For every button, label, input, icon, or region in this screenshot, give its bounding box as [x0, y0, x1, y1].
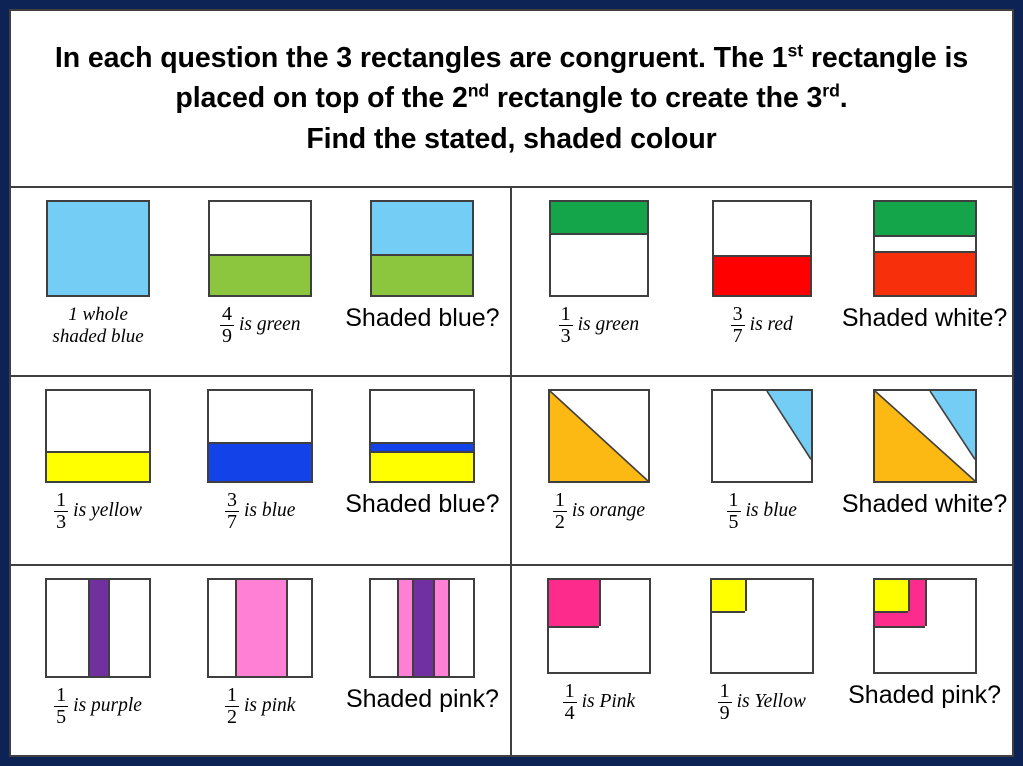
- q6-rect3-divider-v-outer: [925, 580, 927, 626]
- q3-rect1-yellow-fill: [47, 451, 149, 481]
- q3-rect-1: [45, 389, 151, 483]
- q6-shape1-caption: 1 4 is Pink: [563, 681, 636, 723]
- q6-shape2-caption: 1 9 is Yellow: [718, 681, 806, 723]
- question-cell-4: 1 2 is orange: [512, 377, 1013, 566]
- q1-shape2-caption: 4 9 is green: [220, 304, 301, 346]
- q6-rect-2: [710, 578, 814, 674]
- q5-shape1-fraction: 1 5: [54, 685, 68, 727]
- q3-rect3-yellow-fill: [371, 451, 473, 481]
- q2-shape2-caption: 3 7 is red: [731, 304, 793, 346]
- q3-answer-wrap: Shaded blue?: [345, 483, 499, 535]
- q5-answer-prompt: Shaded pink?: [346, 685, 499, 714]
- q6-rect-3: [873, 578, 977, 674]
- q5-shape2-caption-wrap: 1 2 is pink: [225, 678, 295, 730]
- q6-shape2-label: is Yellow: [737, 691, 806, 713]
- q6-shape1-denominator: 4: [563, 702, 577, 723]
- q2-shape2-caption-wrap: 3 7 is red: [731, 297, 793, 349]
- question-cell-2: 1 3 is green 3 7: [512, 188, 1013, 377]
- q4-shape2-caption-wrap: 1 5 is blue: [727, 483, 797, 535]
- q5-shape1-caption-wrap: 1 5 is purple: [54, 678, 142, 730]
- q6-shape1-caption-wrap: 1 4 is Pink: [563, 674, 636, 726]
- q2-rect3-orangered-fill: [875, 251, 975, 295]
- q6-shape2-caption-wrap: 1 9 is Yellow: [718, 674, 806, 726]
- q5-shape-3: Shaded pink?: [342, 578, 503, 730]
- q4-rect-1: [548, 389, 650, 483]
- instructions-header: In each question the 3 rectangles are co…: [9, 9, 1014, 188]
- q3-shape1-denominator: 3: [54, 511, 68, 532]
- instructions-line2-part3: .: [840, 82, 848, 114]
- q1-rect3-divider: [372, 254, 472, 256]
- question-cell-5: 1 5 is purple 1: [11, 566, 512, 755]
- q4-shape-3: Shaded white?: [844, 389, 1005, 535]
- instructions-line1-part1: In each question the 3 rectangles are co…: [55, 42, 788, 74]
- q6-rect2-divider-h: [712, 611, 745, 613]
- q5-rect1-divider-right: [108, 580, 110, 676]
- q6-shape1-numerator: 1: [563, 681, 577, 701]
- q6-shape1-label: is Pink: [582, 691, 636, 713]
- instructions-text: In each question the 3 rectangles are co…: [32, 38, 992, 159]
- question-cell-1: 1 whole shaded blue 4 9 is: [11, 188, 512, 377]
- instructions-line2-part2: rectangle to create the 3: [489, 82, 822, 114]
- q6-shape-2: 1 9 is Yellow: [681, 578, 842, 726]
- q6-rect-1: [547, 578, 651, 674]
- q5-answer-wrap: Shaded pink?: [346, 678, 499, 730]
- q4-rect1-orange-triangle: [550, 391, 648, 481]
- ordinal-rd: rd: [822, 81, 839, 101]
- q4-shape1-fraction: 1 2: [553, 490, 567, 532]
- q6-rect3-divider-v-inner: [908, 580, 910, 611]
- q5-shape2-caption: 1 2 is pink: [225, 685, 295, 727]
- q2-shape2-numerator: 3: [731, 304, 745, 324]
- q2-shape-1: 1 3 is green: [518, 200, 679, 349]
- q3-rect-2: [207, 389, 313, 483]
- q2-shape1-caption: 1 3 is green: [559, 304, 640, 346]
- q3-shape1-numerator: 1: [54, 490, 68, 510]
- q6-rect1-pink-fill: [549, 580, 599, 626]
- q5-shape2-fraction: 1 2: [225, 685, 239, 727]
- q3-shape2-caption: 3 7 is blue: [225, 490, 295, 532]
- q2-answer-prompt: Shaded white?: [842, 304, 1007, 333]
- q5-rect2-divider-left: [235, 580, 237, 676]
- q3-shape2-caption-wrap: 3 7 is blue: [225, 483, 295, 535]
- q3-shape2-numerator: 3: [225, 490, 239, 510]
- q5-shape2-label: is pink: [244, 695, 295, 717]
- instructions-line1-part2: rectangle is: [803, 42, 968, 74]
- q1-shape2-caption-wrap: 4 9 is green: [220, 297, 301, 349]
- q5-rect2-divider-right: [286, 580, 288, 676]
- q1-shape-2: 4 9 is green: [180, 200, 341, 349]
- q6-rect1-divider-h: [549, 626, 599, 628]
- q3-shape1-label: is yellow: [73, 500, 142, 522]
- q3-rect3-divider-bottom: [371, 451, 473, 453]
- q3-shape2-denominator: 7: [225, 511, 239, 532]
- q6-shape2-numerator: 1: [718, 681, 732, 701]
- q2-shape-2: 3 7 is red: [681, 200, 842, 349]
- q2-shape-3: Shaded white?: [844, 200, 1005, 349]
- q1-shape2-numerator: 4: [220, 304, 234, 324]
- q6-answer-prompt: Shaded pink?: [848, 681, 1001, 710]
- q4-rect2-blue-triangle: [713, 391, 811, 481]
- q6-shape1-fraction: 1 4: [563, 681, 577, 723]
- q1-shape1-caption-line2: shaded blue: [52, 326, 143, 347]
- q4-answer-wrap: Shaded white?: [842, 483, 1007, 535]
- q6-rect2-divider-v: [745, 580, 747, 611]
- q5-shape1-label: is purple: [73, 695, 142, 717]
- q1-shape1-caption-wrap: 1 whole shaded blue: [52, 297, 143, 349]
- q1-shape-1: 1 whole shaded blue: [18, 200, 179, 349]
- q6-rect2-yellow-fill: [712, 580, 745, 611]
- q1-rect-3: [370, 200, 474, 297]
- q4-shape1-label: is orange: [572, 500, 645, 522]
- q3-shape-3: Shaded blue?: [342, 389, 503, 535]
- q4-shape2-fraction: 1 5: [727, 490, 741, 532]
- q4-shape1-caption-wrap: 1 2 is orange: [553, 483, 645, 535]
- q5-shape1-denominator: 5: [54, 706, 68, 727]
- q2-rect-2: [712, 200, 812, 297]
- instructions-line3: Find the stated, shaded colour: [306, 123, 716, 155]
- q4-rect3-combined-triangles: [875, 391, 975, 481]
- q2-shape1-fraction: 1 3: [559, 304, 573, 346]
- q1-rect-2: [208, 200, 312, 297]
- q6-shape-1: 1 4 is Pink: [518, 578, 679, 726]
- q5-rect3-divider-1: [397, 580, 399, 676]
- q3-rect3-divider-top: [371, 442, 473, 444]
- q3-shape-1: 1 3 is yellow: [18, 389, 179, 535]
- q1-rect3-blue-fill: [372, 202, 472, 254]
- q1-rect2-green-fill: [210, 254, 310, 295]
- ordinal-nd: nd: [468, 81, 489, 101]
- q4-shape2-label: is blue: [746, 500, 797, 522]
- q2-shape2-fraction: 3 7: [731, 304, 745, 346]
- q5-rect1-divider-left: [88, 580, 90, 676]
- question-cell-3: 1 3 is yellow 3 7: [11, 377, 512, 566]
- q3-shape1-caption: 1 3 is yellow: [54, 490, 142, 532]
- q5-rect-3: [369, 578, 475, 678]
- q5-rect2-pink-fill: [235, 580, 286, 676]
- q2-shape2-label: is red: [750, 314, 793, 336]
- q6-rect3-divider-h-outer: [875, 626, 925, 628]
- q5-rect3-divider-2: [412, 580, 414, 676]
- q6-answer-wrap: Shaded pink?: [848, 674, 1001, 726]
- q5-rect1-purple-fill: [88, 580, 108, 676]
- q3-shape2-fraction: 3 7: [225, 490, 239, 532]
- q4-shape2-numerator: 1: [727, 490, 741, 510]
- q4-shape1-denominator: 2: [553, 511, 567, 532]
- q5-shape-1: 1 5 is purple: [18, 578, 179, 730]
- q5-rect3-purple-fill: [412, 580, 432, 676]
- q4-shape2-caption: 1 5 is blue: [727, 490, 797, 532]
- q5-shape1-caption: 1 5 is purple: [54, 685, 142, 727]
- q1-rect2-divider: [210, 254, 310, 256]
- q2-rect3-green-fill: [875, 202, 975, 235]
- q2-shape1-label: is green: [578, 314, 640, 336]
- q3-rect-3: [369, 389, 475, 483]
- question-cell-6: 1 4 is Pink 1: [512, 566, 1013, 755]
- q5-rect3-divider-3: [433, 580, 435, 676]
- questions-grid: 1 whole shaded blue 4 9 is: [9, 188, 1014, 757]
- q3-shape1-fraction: 1 3: [54, 490, 68, 532]
- q1-shape2-label: is green: [239, 314, 301, 336]
- q2-rect1-divider: [551, 233, 647, 235]
- q1-shape1-caption: 1 whole shaded blue: [52, 304, 143, 348]
- q5-shape2-denominator: 2: [225, 706, 239, 727]
- q1-rect-1: [46, 200, 150, 297]
- q3-shape1-caption-wrap: 1 3 is yellow: [54, 483, 142, 535]
- q2-rect-1: [549, 200, 649, 297]
- q4-shape-1: 1 2 is orange: [518, 389, 679, 535]
- q1-shape2-denominator: 9: [220, 325, 234, 346]
- q6-shape-3: Shaded pink?: [844, 578, 1005, 726]
- q1-answer-wrap: Shaded blue?: [345, 297, 499, 349]
- q3-answer-prompt: Shaded blue?: [345, 490, 499, 519]
- q1-shape1-caption-line1: 1 whole: [68, 304, 128, 325]
- q4-rect-2: [711, 389, 813, 483]
- q2-shape1-numerator: 1: [559, 304, 573, 324]
- q5-rect-1: [45, 578, 151, 678]
- q5-rect-2: [207, 578, 313, 678]
- q4-shape-2: 1 5 is blue: [681, 389, 842, 535]
- q4-answer-prompt: Shaded white?: [842, 490, 1007, 519]
- q6-rect1-divider-v: [599, 580, 601, 626]
- q5-shape2-numerator: 1: [225, 685, 239, 705]
- q2-rect3-divider-top: [875, 235, 975, 237]
- worksheet-page: In each question the 3 rectangles are co…: [9, 9, 1014, 757]
- q1-shape2-fraction: 4 9: [220, 304, 234, 346]
- q3-rect1-divider: [47, 451, 149, 453]
- q4-shape1-caption: 1 2 is orange: [553, 490, 645, 532]
- q3-shape-2: 3 7 is blue: [180, 389, 341, 535]
- q2-rect-3: [873, 200, 977, 297]
- q1-rect1-blue-fill: [48, 202, 148, 295]
- q2-shape2-denominator: 7: [731, 325, 745, 346]
- q2-answer-wrap: Shaded white?: [842, 297, 1007, 349]
- q2-rect1-green-fill: [551, 202, 647, 233]
- q6-rect3-divider-h-inner: [875, 611, 908, 613]
- q6-rect3-yellow-fill: [875, 580, 908, 611]
- q2-rect2-divider: [714, 255, 810, 257]
- q3-rect2-divider: [209, 442, 311, 444]
- q1-shape-3: Shaded blue?: [342, 200, 503, 349]
- q3-rect2-blue-fill: [209, 442, 311, 481]
- q1-answer-prompt: Shaded blue?: [345, 304, 499, 333]
- ordinal-st: st: [788, 40, 804, 60]
- q6-shape2-denominator: 9: [718, 702, 732, 723]
- q5-shape1-numerator: 1: [54, 685, 68, 705]
- q2-shape1-caption-wrap: 1 3 is green: [559, 297, 640, 349]
- instructions-line2-part1: placed on top of the 2: [175, 82, 467, 114]
- q4-shape1-numerator: 1: [553, 490, 567, 510]
- q2-rect2-red-fill: [714, 255, 810, 295]
- q4-shape2-denominator: 5: [727, 511, 741, 532]
- q2-shape1-denominator: 3: [559, 325, 573, 346]
- q3-shape2-label: is blue: [244, 500, 295, 522]
- q6-shape2-fraction: 1 9: [718, 681, 732, 723]
- q4-rect-3: [873, 389, 977, 483]
- q2-rect3-divider-bottom: [875, 251, 975, 253]
- q5-shape-2: 1 2 is pink: [180, 578, 341, 730]
- q5-rect3-divider-4: [448, 580, 450, 676]
- q1-rect3-green-fill: [372, 254, 472, 295]
